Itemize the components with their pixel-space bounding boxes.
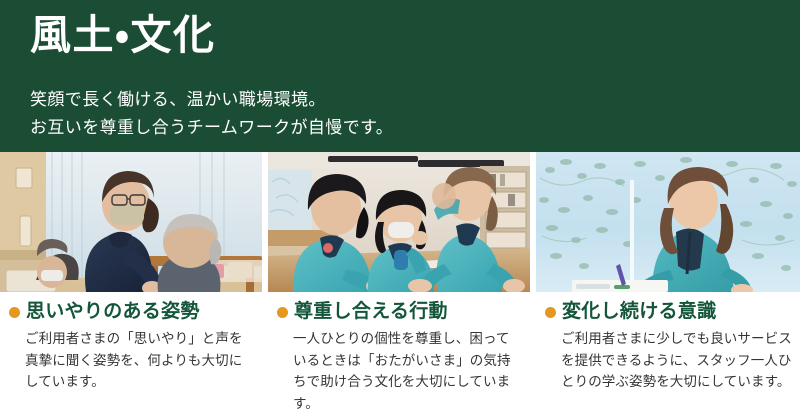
value-card-3-heading: 変化し続ける意識 <box>562 300 716 324</box>
page-title: 風土・文化 <box>30 8 215 62</box>
caregiver-assisting-elderly-resident-photo <box>0 152 262 292</box>
value-card-1-heading: 思いやりのある姿勢 <box>26 300 200 324</box>
staff-team-meeting-around-table-photo <box>268 152 530 292</box>
staff-member-writing-notes-photo <box>536 152 800 292</box>
value-card-1-heading-row: 思いやりのある姿勢 <box>9 300 252 324</box>
hero-subtitle-line-2: お互いを尊重し合うチームワークが自慢です。 <box>30 114 393 142</box>
orange-dot-icon <box>9 307 20 318</box>
orange-dot-icon <box>277 307 288 318</box>
value-card-1: 思いやりのある姿勢 ご利用者さまの「思いやり」と声を真摯に聞く姿勢を、何よりも大… <box>0 152 262 420</box>
value-card-3-heading-row: 変化し続ける意識 <box>545 300 792 324</box>
value-card-1-body: 思いやりのある姿勢 ご利用者さまの「思いやり」と声を真摯に聞く姿勢を、何よりも大… <box>0 292 262 393</box>
value-card-2-heading-row: 尊重し合える行動 <box>277 300 520 324</box>
value-card-1-text: ご利用者さまの「思いやり」と声を真摯に聞く姿勢を、何よりも大切にしています。 <box>9 328 252 393</box>
hero-subtitle-line-1: 笑顔で長く働ける、温かい職場環境。 <box>30 86 393 114</box>
value-card-3: 変化し続ける意識 ご利用者さまに少しでも良いサービスを提供できるように、スタッフ… <box>536 152 800 420</box>
value-card-2: 尊重し合える行動 一人ひとりの個性を尊重し、困っているときは「おたがいさま」の気… <box>268 152 530 420</box>
hero-subtitle: 笑顔で長く働ける、温かい職場環境。 お互いを尊重し合うチームワークが自慢です。 <box>30 86 393 142</box>
value-cards-row: 思いやりのある姿勢 ご利用者さまの「思いやり」と声を真摯に聞く姿勢を、何よりも大… <box>0 152 800 420</box>
value-card-2-text: 一人ひとりの個性を尊重し、困っているときは「おたがいさま」の気持ちで助け合う文化… <box>277 328 520 414</box>
value-card-2-heading: 尊重し合える行動 <box>294 300 448 324</box>
hero-banner: 風土・文化 笑顔で長く働ける、温かい職場環境。 お互いを尊重し合うチームワークが… <box>0 0 800 152</box>
value-card-2-body: 尊重し合える行動 一人ひとりの個性を尊重し、困っているときは「おたがいさま」の気… <box>268 292 530 414</box>
orange-dot-icon <box>545 307 556 318</box>
value-card-3-text: ご利用者さまに少しでも良いサービスを提供できるように、スタッフ一人ひとりの学ぶ姿… <box>545 328 792 393</box>
page-root: 風土・文化 笑顔で長く働ける、温かい職場環境。 お互いを尊重し合うチームワークが… <box>0 0 800 420</box>
value-card-3-body: 変化し続ける意識 ご利用者さまに少しでも良いサービスを提供できるように、スタッフ… <box>536 292 800 393</box>
